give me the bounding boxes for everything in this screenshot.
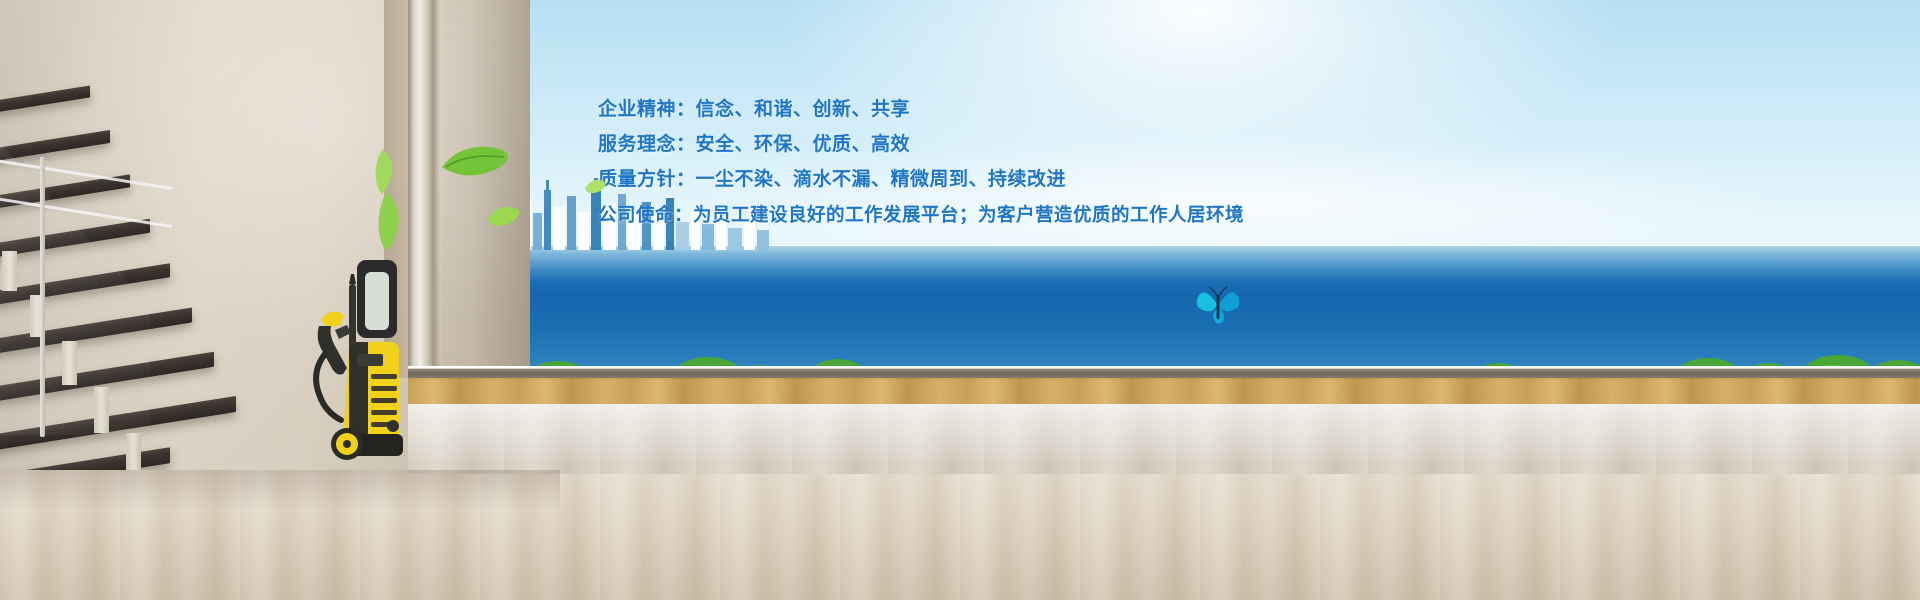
leaf-shape — [584, 178, 606, 196]
floor-wood-band — [408, 378, 1920, 404]
window-frame-inner — [434, 0, 441, 378]
leaf-shape — [440, 145, 510, 183]
slogan-block: 企业精神：信念、和谐、创新、共享 服务理念：安全、环保、优质、高效 质量方针：一… — [598, 92, 1244, 232]
railing-post — [40, 157, 45, 437]
leaf-shape — [372, 190, 402, 252]
slogan-line-quality-policy: 质量方针：一尘不染、滴水不漏、精微周到、持续改进 — [598, 162, 1244, 197]
leaf-shape — [370, 148, 396, 194]
pressure-washer — [305, 258, 420, 463]
leaf-1-icon — [440, 145, 510, 188]
butterfly-icon — [1196, 284, 1240, 331]
floor-shadow — [0, 470, 560, 510]
butterfly-shape — [1196, 284, 1240, 326]
leaf-3-icon — [370, 148, 396, 199]
leaf-5-icon — [584, 178, 606, 201]
slogan-line-enterprise-spirit: 企业精神：信念、和谐、创新、共享 — [598, 92, 1244, 127]
banner-stage: 企业精神：信念、和谐、创新、共享 服务理念：安全、环保、优质、高效 质量方针：一… — [0, 0, 1920, 600]
leaf-shape — [486, 205, 520, 231]
ocean-shimmer — [408, 246, 1920, 282]
leaf-4-icon — [486, 205, 520, 236]
stair-tread — [0, 130, 110, 165]
slogan-line-service-philosophy: 服务理念：安全、环保、优质、高效 — [598, 127, 1244, 162]
pressure-washer-svg — [305, 258, 420, 463]
floating-staircase — [0, 95, 240, 475]
leaf-2-icon — [372, 190, 402, 257]
slogan-line-company-mission: 公司使命：为员工建设良好的工作发展平台；为客户营造优质的工作人居环境 — [598, 197, 1244, 232]
